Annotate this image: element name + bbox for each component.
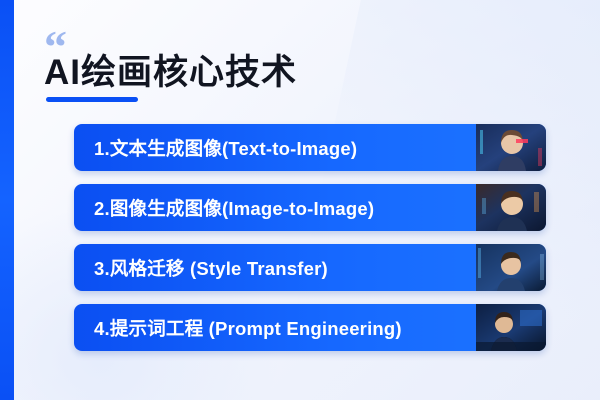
list-item[interactable]: 3.风格迁移 (Style Transfer) [74,244,546,291]
person-at-desk-icon [476,304,546,351]
list-item-label: 4.提示词工程 (Prompt Engineering) [74,315,402,341]
page-title: AI绘画核心技术 [44,44,297,95]
portrait-cyberpunk-man-icon [476,124,546,171]
list-item[interactable]: 4.提示词工程 (Prompt Engineering) [74,304,546,351]
slide-root: “ AI绘画核心技术 1.文本生成图像(Text-to-Image) [0,0,600,400]
portrait-man-blue-light-icon [476,244,546,291]
list-item-label: 3.风格迁移 (Style Transfer) [74,255,328,281]
portrait-young-man-icon [476,184,546,231]
list-item[interactable]: 2.图像生成图像(Image-to-Image) [74,184,546,231]
list-item[interactable]: 1.文本生成图像(Text-to-Image) [74,124,546,171]
list-item-label: 1.文本生成图像(Text-to-Image) [74,135,357,161]
left-accent-bar [0,0,14,400]
list-item-label: 2.图像生成图像(Image-to-Image) [74,195,374,221]
title-underline [46,97,138,102]
technique-list: 1.文本生成图像(Text-to-Image) [74,124,546,364]
